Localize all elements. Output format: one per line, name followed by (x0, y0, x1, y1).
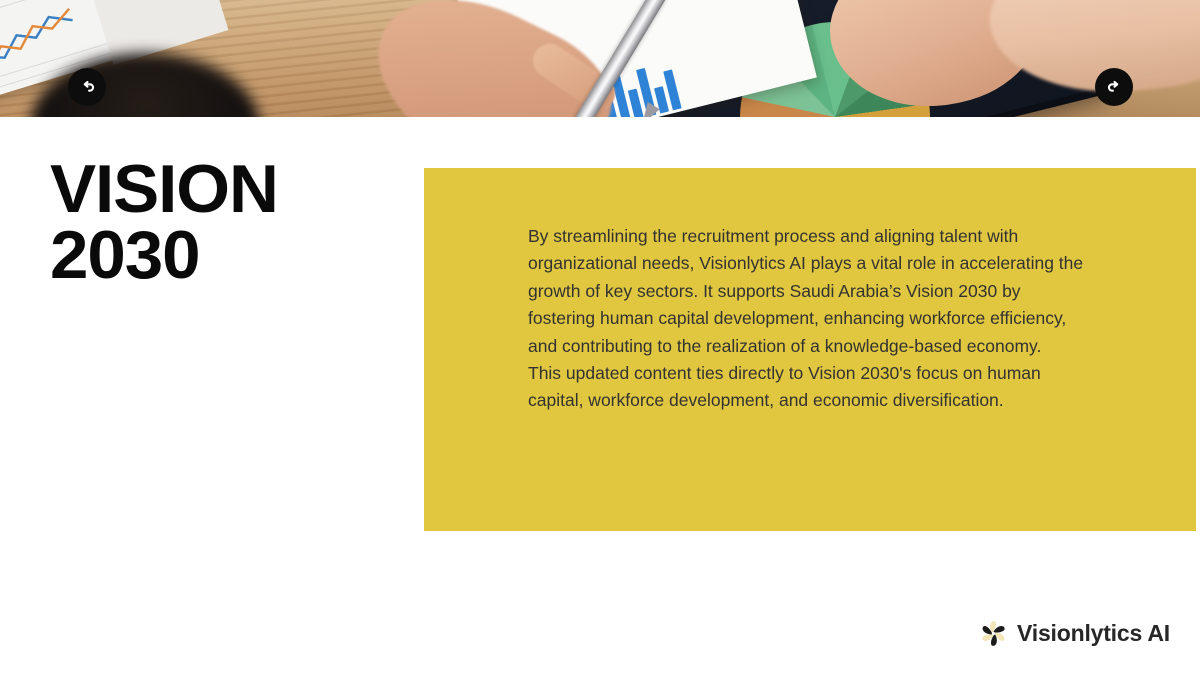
brand-name: Visionlytics AI (1017, 620, 1170, 647)
brand-logo: Visionlytics AI (979, 619, 1170, 648)
redo-arrow-right-icon (1105, 78, 1124, 97)
panel-body-text: By streamlining the recruitment process … (528, 223, 1088, 415)
hero-photograph (0, 0, 1200, 117)
page-title: VISION 2030 (50, 155, 400, 285)
title-line-vision: VISION (50, 155, 428, 223)
next-slide-button[interactable] (1095, 68, 1133, 106)
pinwheel-swirl-logo-icon (979, 619, 1008, 648)
hero-banner (0, 0, 1200, 117)
title-line-year: 2030 (50, 221, 428, 289)
paragraph-two: This updated content ties directly to Vi… (528, 360, 1088, 415)
previous-slide-button[interactable] (68, 68, 106, 106)
highlight-panel: By streamlining the recruitment process … (424, 168, 1196, 531)
undo-arrow-left-icon (78, 78, 97, 97)
paragraph-one: By streamlining the recruitment process … (528, 223, 1088, 360)
slide-body: VISION 2030 By streamlining the recruitm… (0, 117, 1200, 675)
